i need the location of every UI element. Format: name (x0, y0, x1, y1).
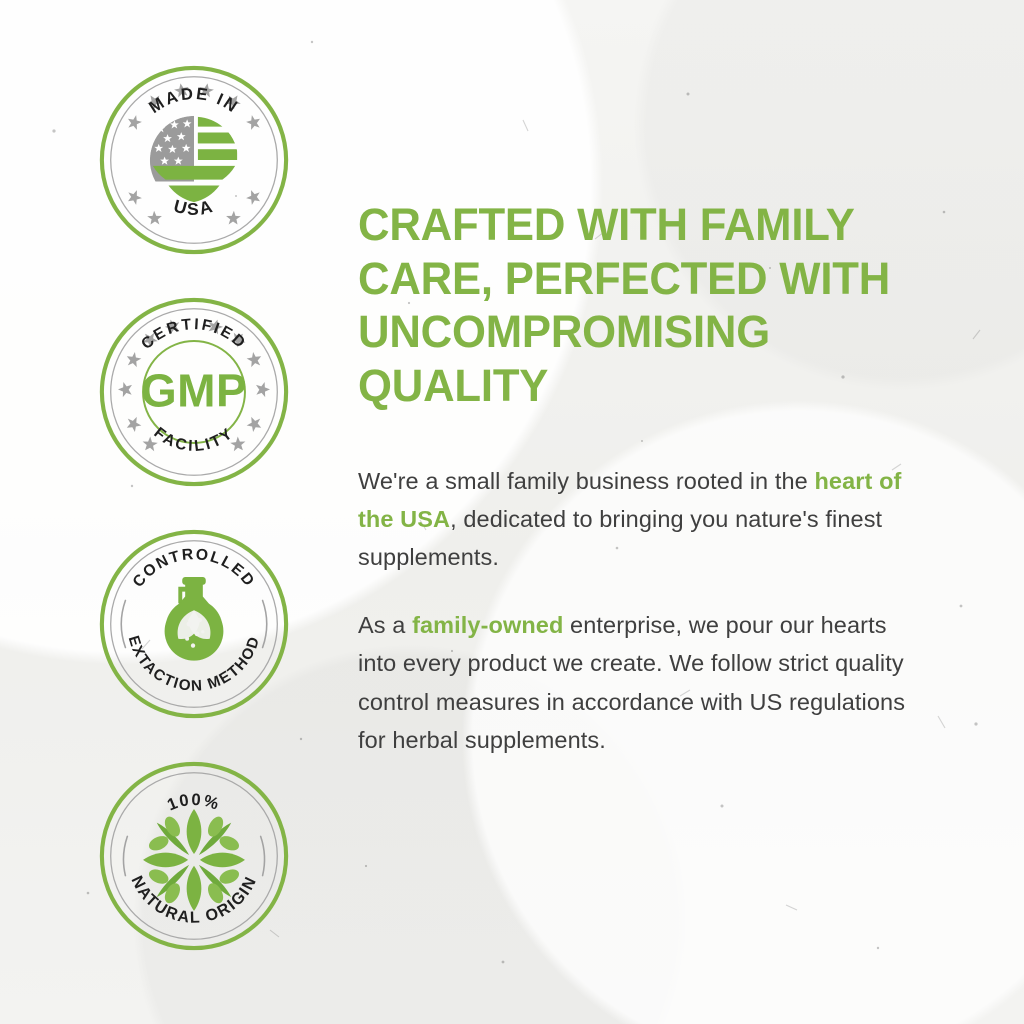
text-run: As a (358, 612, 412, 638)
page-title: CRAFTED WITH FAMILY CARE, PERFECTED WITH… (358, 198, 907, 412)
body-copy: We're a small family business rooted in … (358, 462, 924, 758)
usa-flag-circle-icon (150, 116, 238, 202)
promo-banner: MADE IN USA (0, 0, 1024, 1024)
badge-top-label: CERTIFIED (138, 316, 250, 353)
badge-top-label: MADE IN (146, 84, 243, 117)
text-run: We're a small family business rooted in … (358, 468, 814, 494)
badge-made-in-usa[interactable]: MADE IN USA (96, 62, 292, 258)
badge-natural-origin[interactable]: 100% NATURAL ORIGIN (96, 758, 292, 954)
content-column: CRAFTED WITH FAMILY CARE, PERFECTED WITH… (358, 198, 924, 759)
certification-badge-list: MADE IN USA (96, 62, 296, 954)
badge-gmp-certified-facility[interactable]: GMP CERTIFIED FACILITY (96, 294, 292, 490)
highlighted-phrase: family-owned (412, 612, 563, 638)
badge-controlled-extaction-method[interactable]: CONTROLLED EXTACTION METHOD (96, 526, 292, 722)
paragraph-1: We're a small family business rooted in … (358, 462, 924, 576)
badge-bottom-label: USA (172, 196, 217, 219)
badge-bottom-label: FACILITY (151, 424, 238, 455)
gmp-center-label: GMP (141, 365, 247, 417)
paragraph-2: As a family-owned enterprise, we pour ou… (358, 606, 924, 758)
